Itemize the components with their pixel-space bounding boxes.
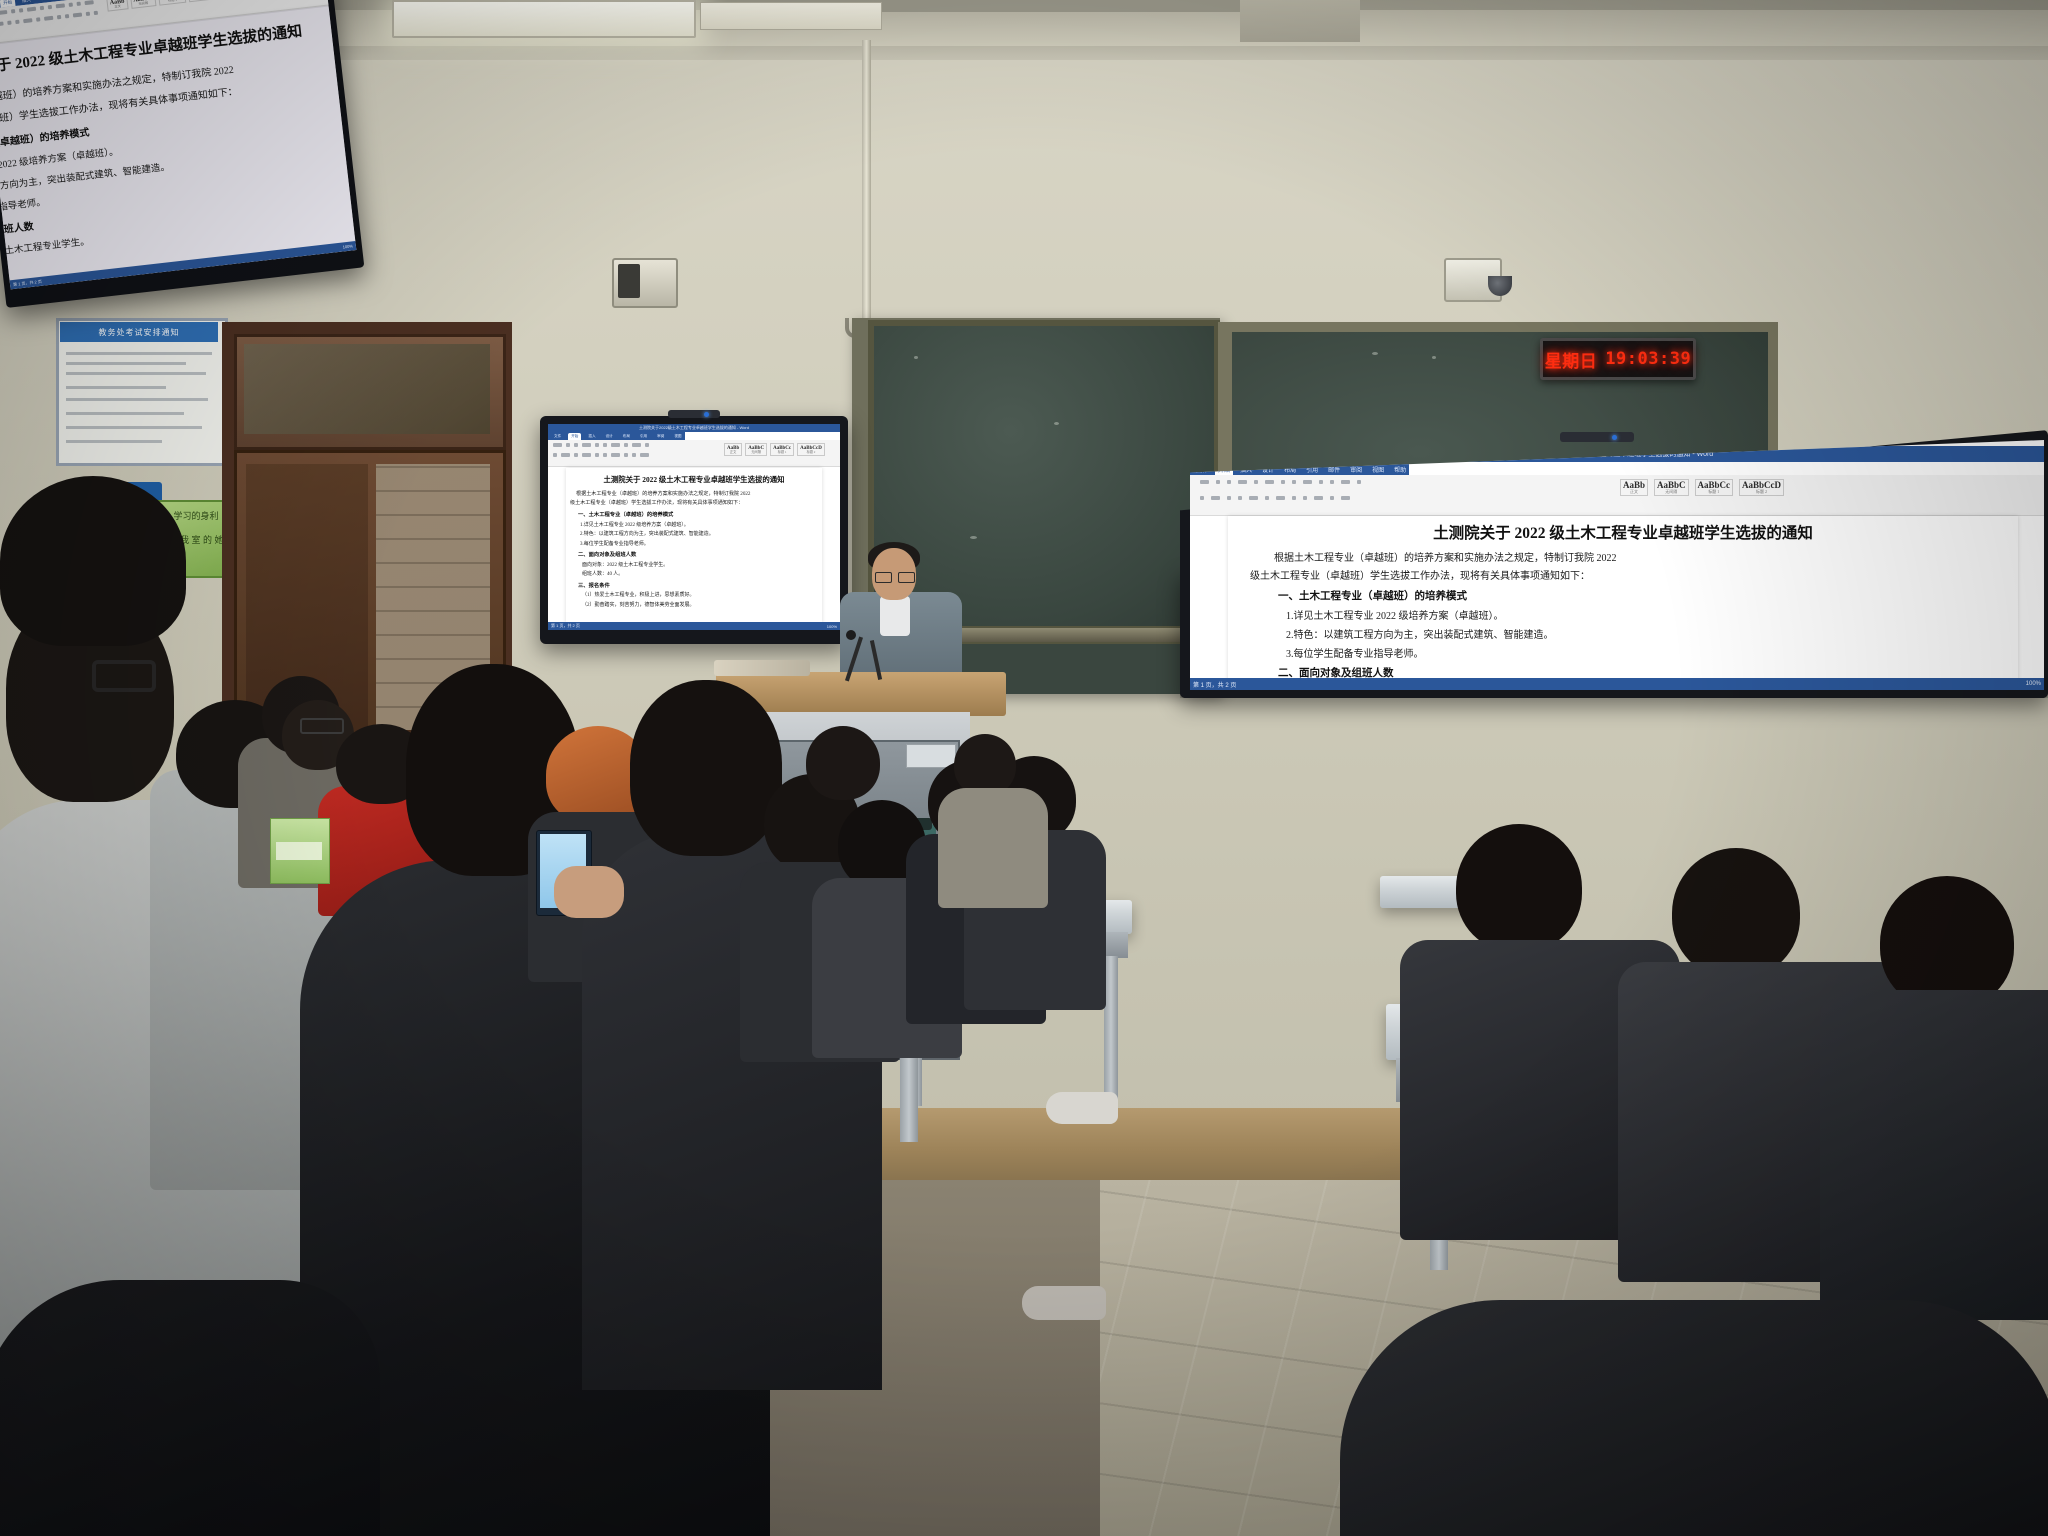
student-glasses-icon <box>300 718 344 734</box>
style-caption-r1: 无间隔 <box>1657 490 1686 494</box>
tab-review-center[interactable]: 审阅 <box>654 433 667 440</box>
style-h1-center[interactable]: AaBbCc 标题 1 <box>770 443 794 456</box>
style-caption-c1: 无间隔 <box>748 451 764 454</box>
ribbon-row-right-2[interactable] <box>1200 496 1350 500</box>
ceiling-tilted-display[interactable]: 土测院关于2022级土木工程专业卓越班学生选拔的通知 - Word 文件 开始 … <box>0 0 364 308</box>
style-caption-2: 标题 1 <box>162 0 184 4</box>
blackboard-left <box>874 326 1214 626</box>
word-title-bar-center: 土测院关于2022级土木工程专业卓越班学生选拔的通知 - Word <box>548 424 840 432</box>
status-zoom-level: 100% <box>342 243 353 249</box>
poster-text-line <box>66 412 184 415</box>
style-nospace-center[interactable]: AaBbC 无间隔 <box>745 443 767 456</box>
style-caption-r0: 正文 <box>1623 490 1645 494</box>
student-arm-foreground <box>0 1280 380 1536</box>
instructor-glasses-right-icon <box>898 572 915 583</box>
tilted-display-screen[interactable]: 土测院关于2022级土木工程专业卓越班学生选拔的通知 - Word 文件 开始 … <box>0 0 356 289</box>
student-hair-spikes <box>0 476 186 646</box>
right-webcam-led-icon <box>1612 435 1617 440</box>
ceiling-duct <box>1240 0 1360 42</box>
poster-text-line <box>66 440 162 443</box>
document-paragraph-1-center: 根据土木工程专业（卓越班）的培养方案和实施办法之规定，特制订我院 2022 <box>576 490 822 497</box>
status-page-number: 第 1 页，共 2 页 <box>13 278 42 287</box>
clock-weekday: 星期日 <box>1545 347 1598 372</box>
section-1-item-2-center: 2.特色：以建筑工程方向为主，突出装配式建筑、智能建造。 <box>580 530 822 537</box>
ribbon-row-center-2[interactable] <box>553 453 649 457</box>
section-3-item-2-center: （2）勤奋踏实，刻苦努力，德智体美劳全面发展。 <box>582 601 822 608</box>
section-heading-2-center: 二、面向对象及组班人数 <box>578 550 822 558</box>
poster-text-line <box>66 352 212 355</box>
ceiling-light-fixture <box>392 0 696 38</box>
microphone-head-icon <box>846 630 856 640</box>
document-title-right: 土测院关于 2022 级土木工程专业卓越班学生选拔的通知 <box>1228 521 2018 543</box>
clock-time: 19:03:39 <box>1605 349 1691 369</box>
right-display-screen[interactable]: 土测院关于2022级土木工程专业卓越班学生选拔的通知 - Word 文件 开始 … <box>1190 440 2044 690</box>
right-document-page[interactable]: 土测院关于 2022 级土木工程专业卓越班学生选拔的通知 根据土木工程专业（卓越… <box>1228 516 2018 690</box>
document-paragraph-2-center: 级土木工程专业（卓越班）学生选拔工作办法，现将有关具体事项通知如下： <box>570 499 822 506</box>
section-1-item-3-right: 3.每位学生配备专业指导老师。 <box>1286 645 2018 660</box>
status-zoom-right: 100% <box>2026 681 2041 687</box>
student-head <box>1456 824 1582 952</box>
style-caption-c2: 标题 1 <box>773 451 791 454</box>
status-page-number-right: 第 1 页，共 2 页 <box>1193 680 1236 689</box>
word-window-title-center: 土测院关于2022级土木工程专业卓越班学生选拔的通知 - Word <box>639 425 749 431</box>
word-status-bar-right: 第 1 页，共 2 页 100% <box>1190 678 2044 690</box>
ribbon-row-center-1[interactable] <box>553 443 649 447</box>
instructor-glasses-left-icon <box>875 572 892 583</box>
status-page-number-center: 第 1 页，共 2 页 <box>551 623 580 629</box>
document-paragraph-2-right: 级土木工程专业（卓越班）学生选拔工作办法，现将有关具体事项通知如下： <box>1250 567 2018 582</box>
student-head <box>630 680 782 856</box>
section-3-item-1-center: （1）热爱土木工程专业，积极上进，思想素质好。 <box>582 591 822 598</box>
center-display-screen[interactable]: 土测院关于2022级土木工程专业卓越班学生选拔的通知 - Word 文件 开始 … <box>548 424 840 630</box>
poster-text-line <box>66 426 202 429</box>
section-heading-1-right: 一、土木工程专业（卓越班）的培养模式 <box>1278 588 2018 603</box>
section-2-item-2-center: 组班人数：40 人。 <box>582 570 822 577</box>
section-heading-3-center: 三、报名条件 <box>578 581 822 589</box>
tab-design-center[interactable]: 设计 <box>603 433 616 440</box>
lectern-clutter <box>714 660 810 676</box>
student-head <box>954 734 1016 796</box>
style-h2-center[interactable]: AaBbCcD 标题 2 <box>797 443 825 456</box>
center-document-page[interactable]: 土测院关于 2022 级土木工程专业卓越班学生选拔的通知 根据土木工程专业（卓越… <box>566 468 822 623</box>
door-transom-glass <box>244 344 490 434</box>
section-1-item-1-center: 1.详见土木工程专业 2022 级培养方案（卓越班）。 <box>580 521 822 528</box>
student-torso <box>938 788 1048 908</box>
hand <box>554 866 624 918</box>
style-nospace-right[interactable]: AaBbC 无间隔 <box>1654 479 1689 496</box>
style-normal-center[interactable]: AaBb 正文 <box>724 443 742 456</box>
word-ribbon-tabs-center[interactable]: 文件 开始 插入 设计 布局 引用 审阅 视图 <box>548 432 685 440</box>
tab-layout-center[interactable]: 布局 <box>620 433 633 440</box>
student-torso-foreground <box>1340 1300 2048 1536</box>
shoe <box>1022 1286 1106 1320</box>
student-head <box>806 726 880 800</box>
student-torso <box>1820 990 2048 1320</box>
document-paragraph-1-right: 根据土木工程专业（卓越班）的培养方案和实施办法之规定，特制订我院 2022 <box>1274 549 2018 564</box>
tab-insert-center[interactable]: 插入 <box>585 433 598 440</box>
ceiling-pipe <box>862 40 871 340</box>
document-title-center: 土测院关于 2022 级土木工程专业卓越班学生选拔的通知 <box>566 474 822 485</box>
style-h2-right[interactable]: AaBbCcD 标题 2 <box>1739 479 1784 496</box>
style-normal-right[interactable]: AaBb 正文 <box>1620 479 1648 496</box>
tab-file-center[interactable]: 文件 <box>551 433 564 440</box>
juice-carton-label <box>276 842 322 860</box>
shoe <box>1046 1092 1118 1124</box>
tab-view-right[interactable]: 视图 <box>1369 464 1387 475</box>
led-wall-clock: 星期日 19:03:39 <box>1540 338 1696 380</box>
style-h1-right[interactable]: AaBbCc 标题 1 <box>1695 479 1734 496</box>
tab-view-center[interactable]: 视图 <box>671 433 684 440</box>
poster-text-line <box>66 386 166 389</box>
student-head <box>1672 848 1800 978</box>
classroom-photo-scene: 教务处考试安排通知 WiFi 学习的身利 我 我 室 的 她 星期日 19:03 <box>0 0 2048 1536</box>
section-1-item-3-center: 3.每位学生配备专业指导老师。 <box>580 540 822 547</box>
tab-references-center[interactable]: 引用 <box>637 433 650 440</box>
section-heading-1-center: 一、土木工程专业（卓越班）的培养模式 <box>578 510 822 518</box>
tab-home-center[interactable]: 开始 <box>568 433 581 440</box>
style-caption-c3: 标题 2 <box>800 451 822 454</box>
center-webcam-led-icon <box>704 412 709 417</box>
speaker-grill-icon <box>618 264 640 298</box>
wall-speaker <box>612 258 678 308</box>
student-glasses-icon <box>92 660 156 692</box>
style-gallery-right[interactable]: AaBb 正文 AaBbC 无间隔 AaBbCc 标题 1 AaBbCcD 标题… <box>1620 479 1784 496</box>
ribbon-row-right-1[interactable] <box>1200 480 1361 484</box>
poster-header: 教务处考试安排通知 <box>60 322 218 342</box>
center-wall-display[interactable]: 土测院关于2022级土木工程专业卓越班学生选拔的通知 - Word 文件 开始 … <box>540 416 848 644</box>
section-2-item-1-center: 面向对象：2022 级土木工程专业学生。 <box>582 561 822 568</box>
section-1-item-2-right: 2.特色：以建筑工程方向为主，突出装配式建筑、智能建造。 <box>1286 626 2018 641</box>
right-webcam-bar <box>1560 432 1634 442</box>
style-caption-r3: 标题 2 <box>1742 490 1781 494</box>
poster-text-line <box>66 398 208 401</box>
desk-leg <box>1104 956 1118 1106</box>
tab-help-right[interactable]: 帮助 <box>1391 464 1409 475</box>
center-display-webcam <box>668 410 720 418</box>
ceiling-light-fixture-secondary <box>700 2 882 30</box>
style-caption-r2: 标题 1 <box>1698 490 1731 494</box>
section-1-item-1-right: 1.详见土木工程专业 2022 级培养方案（卓越班）。 <box>1286 607 2018 622</box>
word-status-bar-center: 第 1 页，共 2 页 100% <box>548 622 840 630</box>
instructor-shirt <box>880 596 910 636</box>
style-gallery-center[interactable]: AaBb 正文 AaBbC 无间隔 AaBbCc 标题 1 AaBbCcD 标题… <box>724 443 825 456</box>
poster-text-line <box>66 372 206 375</box>
status-zoom-center: 100% <box>827 624 837 629</box>
poster-text-line <box>66 362 186 365</box>
style-caption-c0: 正文 <box>727 451 739 454</box>
